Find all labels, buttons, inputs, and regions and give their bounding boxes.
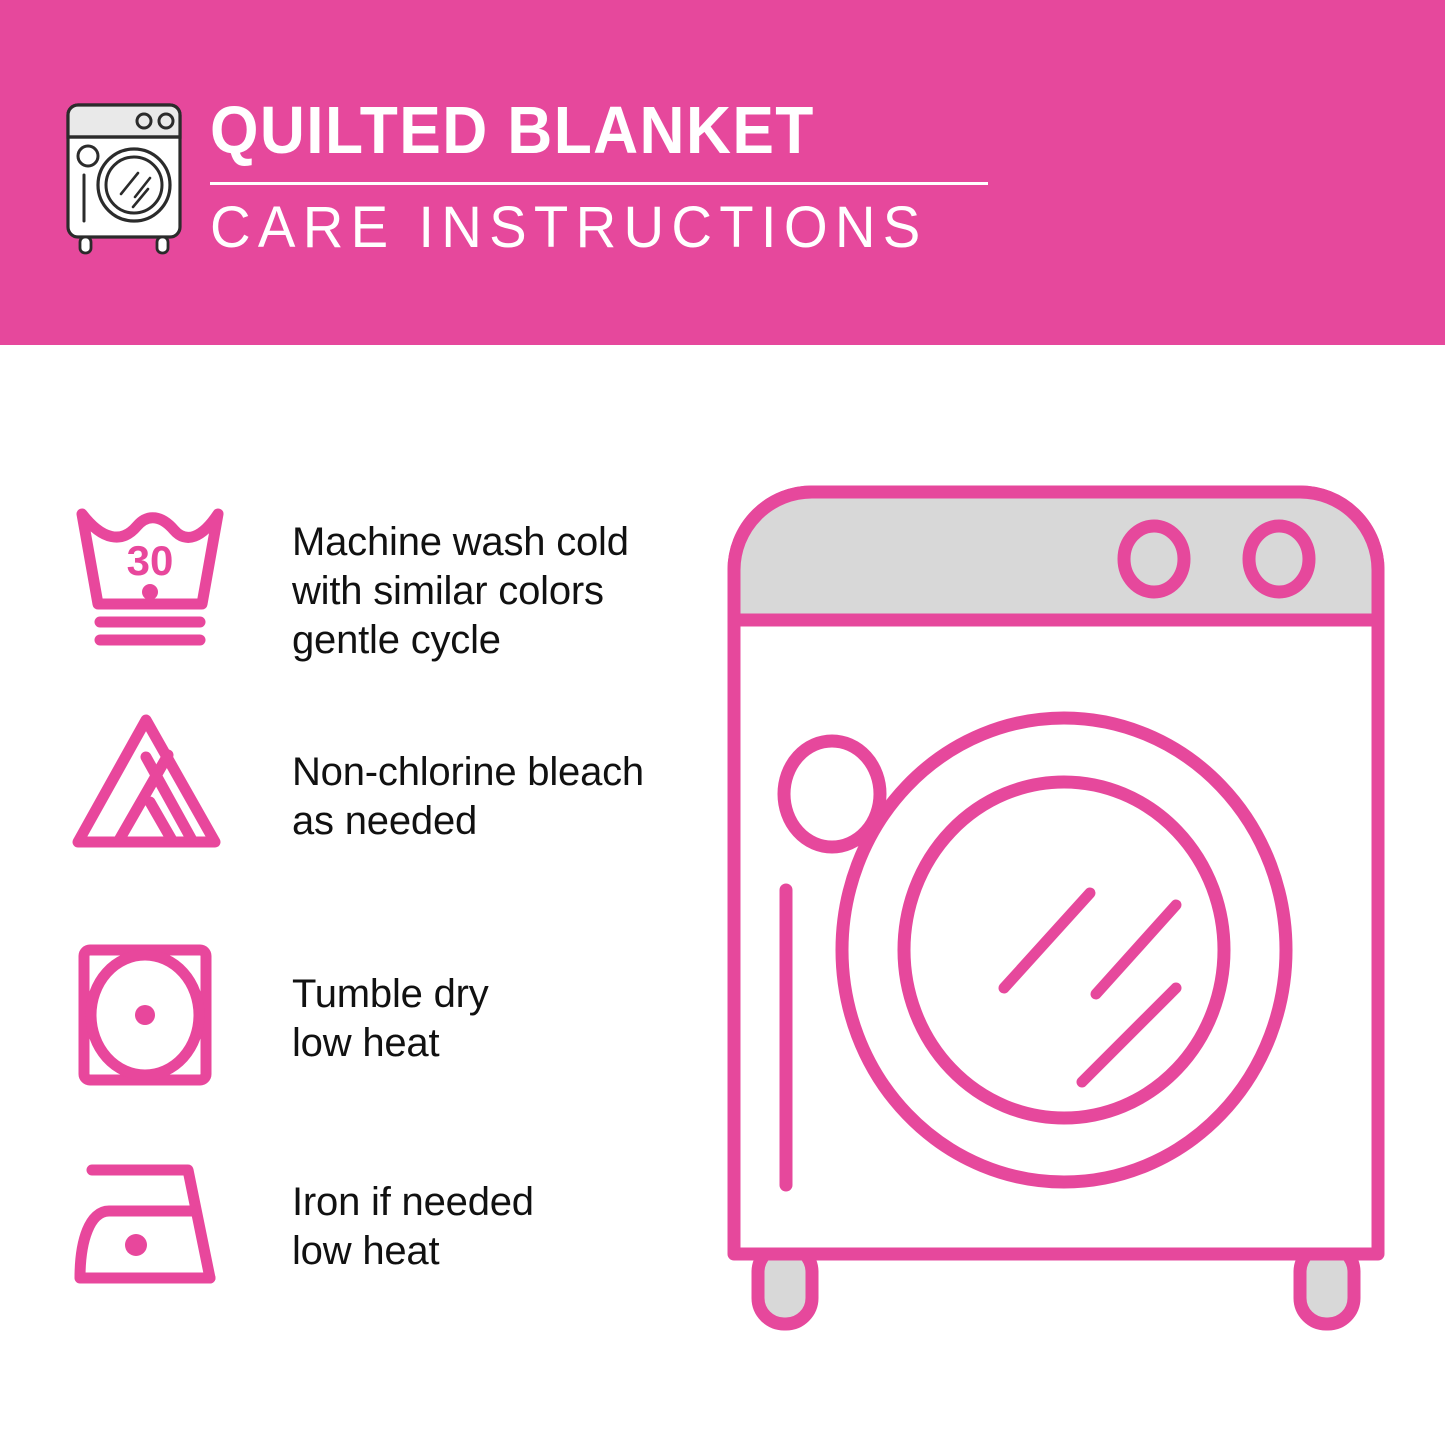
front-load-washing-machine-illustration xyxy=(714,470,1414,1360)
header-content: QUILTED BLANKET CARE INSTRUCTIONS xyxy=(60,95,988,259)
iron-low-icon xyxy=(70,1150,230,1300)
bleach-triangle-striped-icon xyxy=(70,710,230,860)
care-item-label: Machine wash cold with similar colors ge… xyxy=(292,500,629,664)
care-instructions-page: QUILTED BLANKET CARE INSTRUCTIONS 30 xyxy=(0,0,1445,1445)
title-divider xyxy=(210,182,988,185)
page-subtitle: CARE INSTRUCTIONS xyxy=(210,199,965,257)
care-item-iron: Iron if needed low heat xyxy=(70,1150,534,1300)
wash-tub-30-gentle-icon: 30 xyxy=(70,500,230,650)
care-item-bleach: Non-chlorine bleach as needed xyxy=(70,710,644,860)
care-instruction-list: 30 Machine wash cold with similar colors… xyxy=(0,345,700,1445)
wash-temperature-label: 30 xyxy=(127,537,174,584)
machine-door-inner xyxy=(904,782,1224,1118)
header-banner: QUILTED BLANKET CARE INSTRUCTIONS xyxy=(0,0,1445,345)
care-item-label: Iron if needed low heat xyxy=(292,1150,534,1276)
care-item-label: Non-chlorine bleach as needed xyxy=(292,710,644,846)
tumble-dry-low-icon xyxy=(70,940,230,1090)
care-item-label: Tumble dry low heat xyxy=(292,940,489,1068)
header-titles: QUILTED BLANKET CARE INSTRUCTIONS xyxy=(210,95,988,257)
washing-machine-icon xyxy=(60,99,188,259)
page-title: QUILTED BLANKET xyxy=(210,97,934,164)
machine-knob-2 xyxy=(1249,526,1309,592)
machine-indicator-circle xyxy=(784,741,880,847)
care-item-tumble-dry: Tumble dry low heat xyxy=(70,940,489,1090)
machine-knob-1 xyxy=(1124,526,1184,592)
care-item-machine-wash: 30 Machine wash cold with similar colors… xyxy=(70,500,629,664)
